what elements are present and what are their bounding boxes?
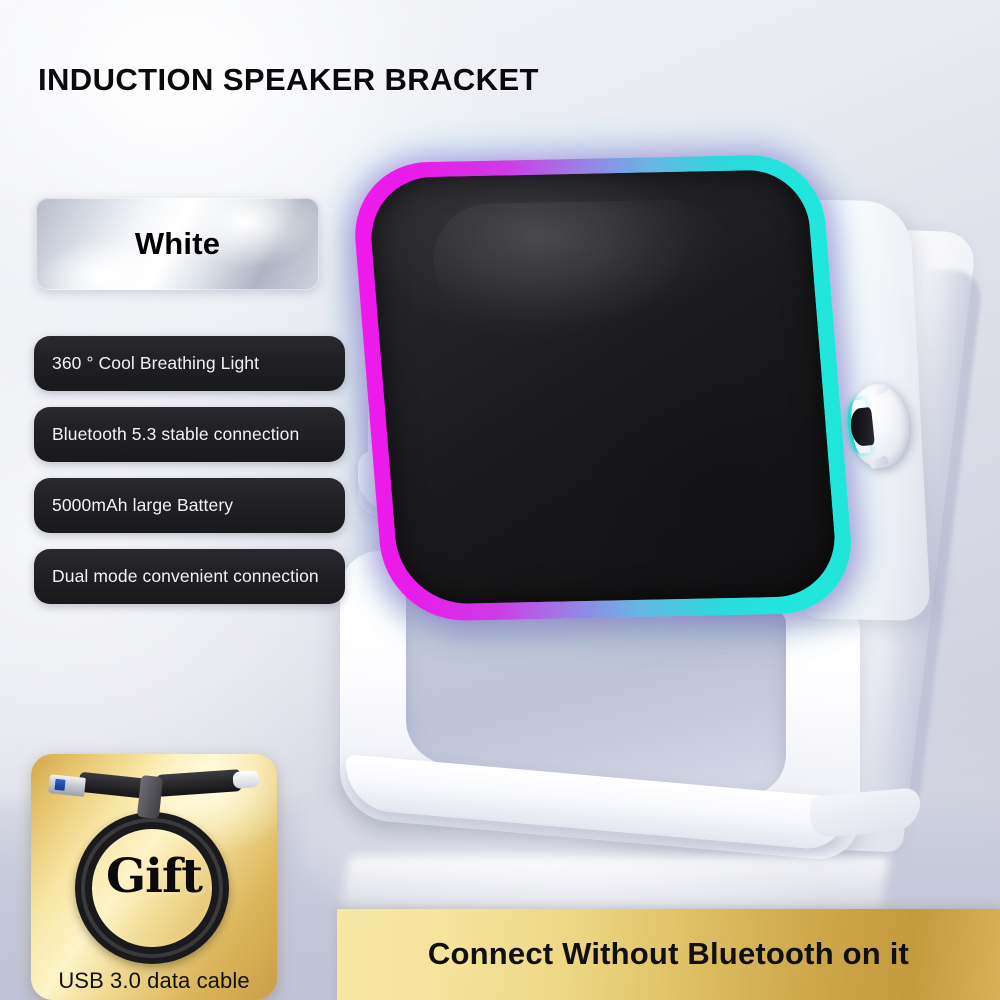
feature-label: Bluetooth 5.3 stable connection: [52, 424, 299, 445]
usb-c-connector-icon: [232, 770, 259, 789]
feature-label: 5000mAh large Battery: [52, 495, 233, 516]
gift-badge: Gift USB 3.0 data cable: [31, 754, 277, 1000]
rgb-light-ring-icon: [349, 154, 857, 622]
gift-word-label: Gift: [31, 849, 277, 904]
gift-caption-label: USB 3.0 data cable: [31, 968, 277, 994]
speaker-head: [349, 154, 857, 622]
bottom-gold-banner: Connect Without Bluetooth on it: [337, 909, 1000, 1000]
face-gloss-highlight: [429, 199, 739, 325]
usb-a-connector-icon: [48, 774, 86, 797]
color-variant-badge[interactable]: White: [36, 198, 319, 290]
speaker-grille-icon: [366, 169, 839, 605]
feature-item-3: 5000mAh large Battery: [34, 478, 345, 533]
feature-label: 360 ° Cool Breathing Light: [52, 353, 259, 374]
color-variant-label: White: [135, 226, 220, 262]
page-title: INDUCTION SPEAKER BRACKET: [38, 62, 539, 98]
feature-item-2: Bluetooth 5.3 stable connection: [34, 407, 345, 462]
banner-text: Connect Without Bluetooth on it: [428, 936, 909, 974]
feature-item-1: 360 ° Cool Breathing Light: [34, 336, 345, 391]
feature-label: Dual mode convenient connection: [52, 566, 319, 587]
cable-tie-clip: [137, 775, 163, 819]
feature-item-4: Dual mode convenient connection: [34, 549, 345, 604]
